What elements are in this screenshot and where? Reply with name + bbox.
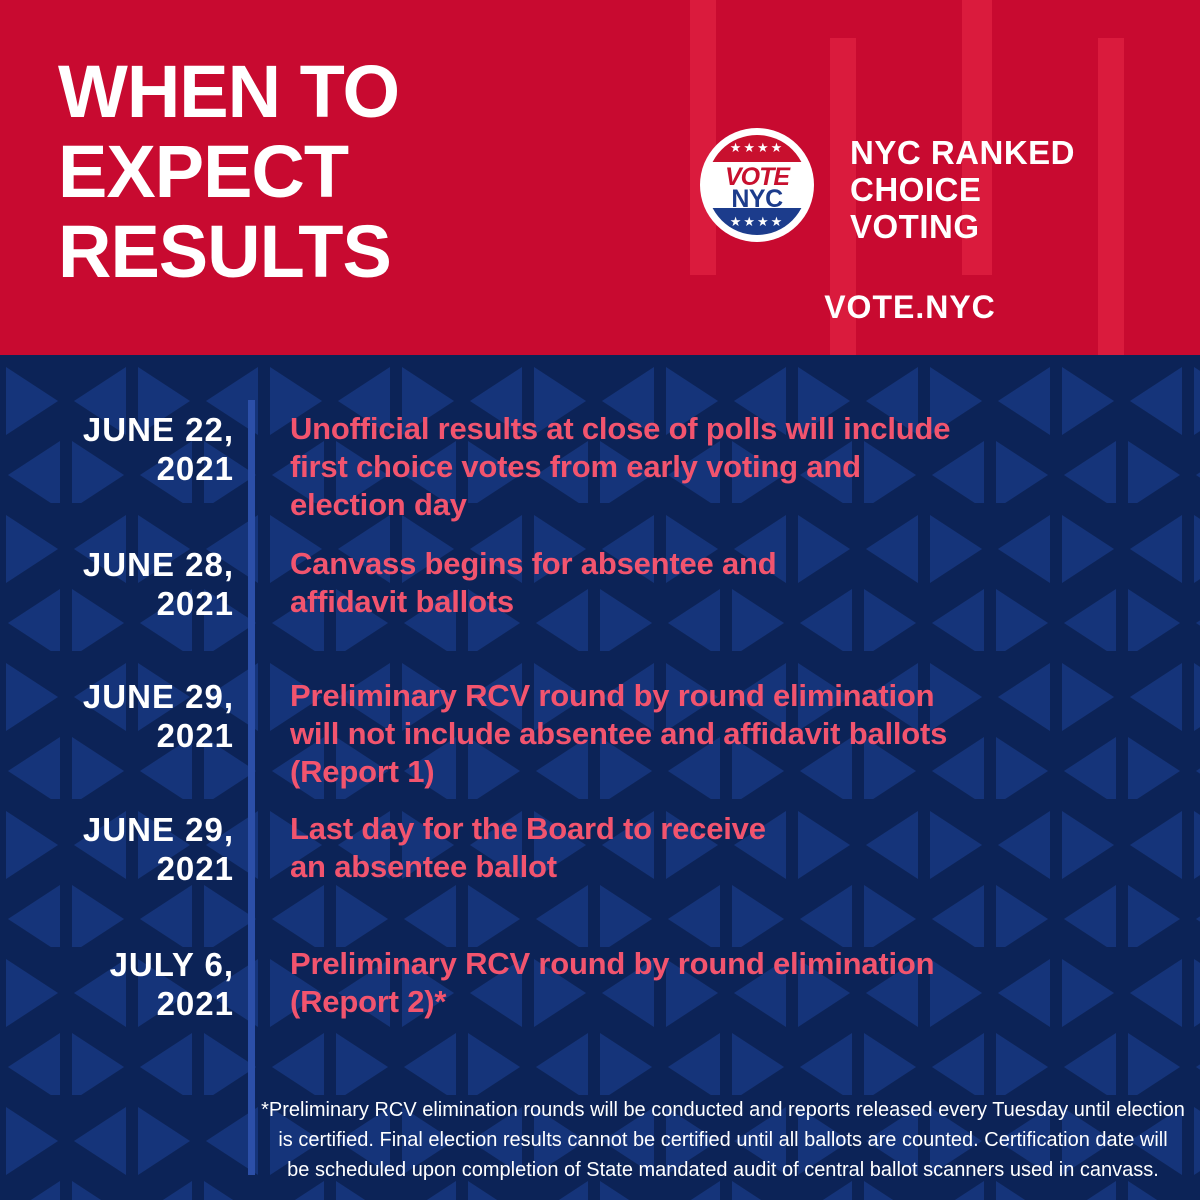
seal-stars-bottom-icon: ★★★★ bbox=[707, 215, 807, 228]
seal-stars-top-icon: ★★★★ bbox=[707, 141, 807, 154]
timeline-description-line: Preliminary RCV round by round eliminati… bbox=[290, 677, 1180, 715]
page-title: WHEN TO EXPECT RESULTS bbox=[58, 52, 678, 292]
timeline-description: Last day for the Board to receive an abs… bbox=[290, 810, 1180, 886]
footnote-line: be scheduled upon completion of State ma… bbox=[258, 1155, 1188, 1185]
timeline-date-line: JULY 6, bbox=[0, 945, 234, 984]
timeline-description: Canvass begins for absentee and affidavi… bbox=[290, 545, 1180, 621]
timeline-date: JUNE 28, 2021 bbox=[0, 545, 234, 623]
timeline-description-line: election day bbox=[290, 486, 1180, 524]
site-url[interactable]: VOTE.NYC bbox=[700, 290, 1120, 324]
brand-name-line: VOTING bbox=[850, 208, 1200, 245]
timeline-description: Preliminary RCV round by round eliminati… bbox=[290, 677, 1180, 791]
timeline-description-line: an absentee ballot bbox=[290, 848, 1180, 886]
timeline-date-line: 2021 bbox=[0, 716, 234, 755]
timeline-description-line: affidavit ballots bbox=[290, 583, 1180, 621]
header-banner: WHEN TO EXPECT RESULTS ★★★★ ★★★★ VOTE NY… bbox=[0, 0, 1200, 355]
timeline-description-line: Canvass begins for absentee and bbox=[290, 545, 1180, 583]
brand-name-line: CHOICE bbox=[850, 171, 1200, 208]
timeline-date-line: 2021 bbox=[0, 984, 234, 1023]
timeline-description-line: (Report 2)* bbox=[290, 983, 1180, 1021]
seal-nyc-text: NYC bbox=[707, 187, 807, 212]
timeline-description: Preliminary RCV round by round eliminati… bbox=[290, 945, 1180, 1021]
timeline-description-line: (Report 1) bbox=[290, 753, 1180, 791]
timeline-date-line: JUNE 29, bbox=[0, 677, 234, 716]
timeline-date-line: 2021 bbox=[0, 849, 234, 888]
timeline-description-line: will not include absentee and affidavit … bbox=[290, 715, 1180, 753]
page-title-line: RESULTS bbox=[58, 212, 678, 292]
timeline-date: JUNE 22, 2021 bbox=[0, 410, 234, 488]
poster-root: WHEN TO EXPECT RESULTS ★★★★ ★★★★ VOTE NY… bbox=[0, 0, 1200, 1200]
brand-name: NYC RANKED CHOICE VOTING bbox=[850, 134, 1200, 245]
timeline-date: JULY 6, 2021 bbox=[0, 945, 234, 1023]
timeline-date: JUNE 29, 2021 bbox=[0, 677, 234, 755]
timeline-date-line: 2021 bbox=[0, 449, 234, 488]
page-title-line: WHEN TO bbox=[58, 52, 678, 132]
vote-nyc-seal-icon: ★★★★ ★★★★ VOTE NYC bbox=[700, 128, 814, 242]
page-title-line: EXPECT bbox=[58, 132, 678, 212]
footnote-line: *Preliminary RCV elimination rounds will… bbox=[258, 1095, 1188, 1125]
timeline-date: JUNE 29, 2021 bbox=[0, 810, 234, 888]
timeline-divider bbox=[248, 400, 255, 1175]
timeline-description-line: first choice votes from early voting and bbox=[290, 448, 1180, 486]
timeline-description-line: Preliminary RCV round by round eliminati… bbox=[290, 945, 1180, 983]
footnote-line: is certified. Final election results can… bbox=[258, 1125, 1188, 1155]
brand-name-line: NYC RANKED bbox=[850, 134, 1200, 171]
timeline-description-line: Last day for the Board to receive bbox=[290, 810, 1180, 848]
timeline-description: Unofficial results at close of polls wil… bbox=[290, 410, 1180, 524]
timeline-date-line: 2021 bbox=[0, 584, 234, 623]
timeline-description-line: Unofficial results at close of polls wil… bbox=[290, 410, 1180, 448]
body-panel: JUNE 22, 2021 Unofficial results at clos… bbox=[0, 355, 1200, 1200]
timeline-date-line: JUNE 22, bbox=[0, 410, 234, 449]
timeline-date-line: JUNE 28, bbox=[0, 545, 234, 584]
footnote: *Preliminary RCV elimination rounds will… bbox=[258, 1095, 1188, 1185]
seal-inner: ★★★★ ★★★★ VOTE NYC bbox=[707, 135, 807, 235]
timeline-date-line: JUNE 29, bbox=[0, 810, 234, 849]
